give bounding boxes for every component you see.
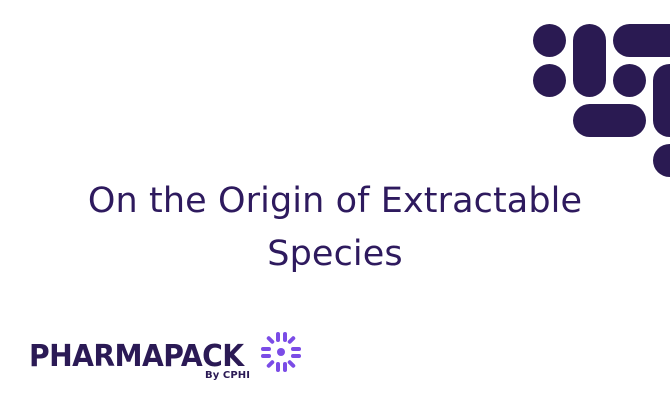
starburst-ray-west-bottom <box>261 354 271 358</box>
pharmapack-logo: PHARMAPACK By CPHI <box>29 332 301 390</box>
logo-circle-top-left <box>533 24 566 57</box>
logo-circle-bottom-right <box>653 144 670 177</box>
starburst-ray-east-top <box>291 347 301 351</box>
starburst-ray-south-right <box>283 362 287 372</box>
starburst-ray-south-left <box>276 362 280 372</box>
slide-title: On the Origin of Extractable Species <box>55 175 615 281</box>
starburst-ray-northwest <box>266 335 275 344</box>
pharmapack-tagline: By CPHI <box>205 371 250 381</box>
logo-pill-tall-right <box>653 64 670 137</box>
logo-circle-mid-left <box>533 64 566 97</box>
starburst-ray-southeast <box>287 359 296 368</box>
logo-pill-wide-top-right <box>613 24 670 57</box>
logo-circle-center <box>613 64 646 97</box>
logo-pill-tall-left <box>573 24 606 97</box>
starburst-ray-northeast <box>287 335 296 344</box>
cphi-logo <box>527 21 651 133</box>
logo-pill-wide-bottom <box>573 104 646 137</box>
presentation-slide: On the Origin of Extractable Species PHA… <box>0 0 670 400</box>
pharmapack-starburst-icon <box>261 332 301 372</box>
starburst-ray-west-top <box>261 347 271 351</box>
starburst-ray-north-left <box>276 332 280 342</box>
starburst-ray-east-bottom <box>291 354 301 358</box>
starburst-ray-southwest <box>266 359 275 368</box>
pharmapack-wordmark: PHARMAPACK <box>29 342 244 372</box>
starburst-center-dot <box>277 348 285 356</box>
